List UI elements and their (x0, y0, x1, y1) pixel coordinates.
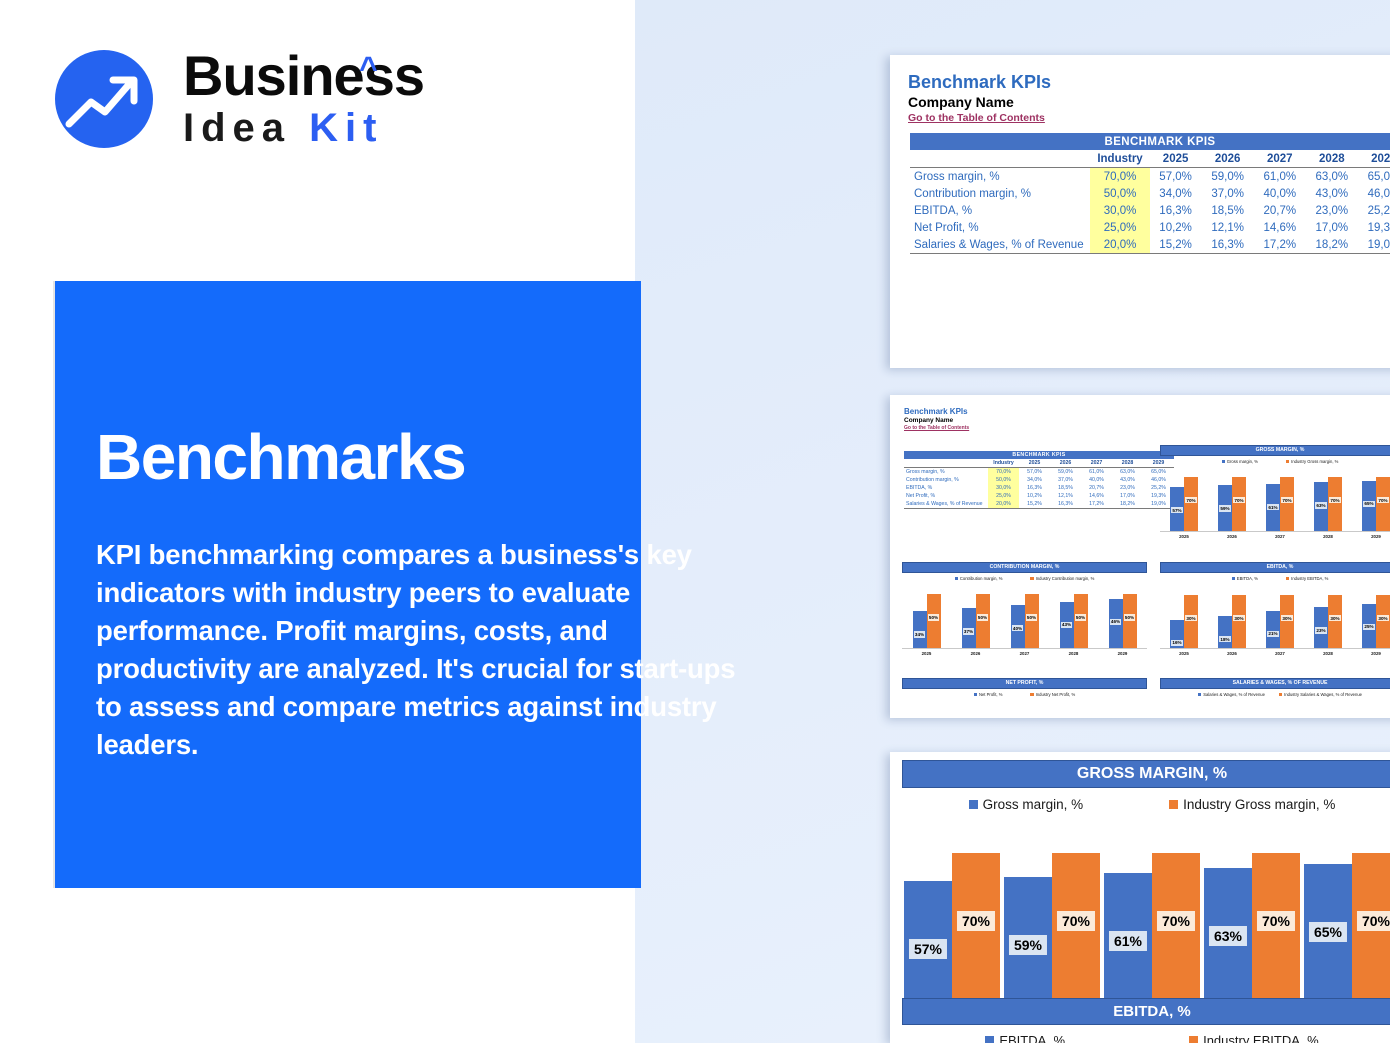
legend-swatch-orange-icon (1279, 693, 1282, 696)
chart-bar-group: 61%70% (1256, 471, 1304, 531)
chart-x-tick: 2025 (902, 649, 951, 656)
sheet-subtitle: Company Name (908, 93, 1051, 111)
sheet-subtitle-mini: Company Name (904, 417, 969, 425)
chart-bar-blue: 21% (1266, 611, 1280, 648)
chart-bar-blue: 40% (1011, 605, 1025, 648)
legend-item-series1: Salaries & Wages, % of Revenue (1198, 692, 1265, 697)
chart-data-label: 50% (1124, 614, 1136, 620)
kpi-header-blank (910, 150, 1090, 168)
chart-bar-orange: 70% (1232, 477, 1246, 531)
kpi-header-2026: 2026 (1050, 459, 1081, 468)
kpi-year-value: 43,0% (1112, 476, 1143, 484)
chart-x-tick: 2027 (1256, 532, 1304, 539)
chart-bar-group: 65%70% (1302, 836, 1390, 1004)
chart-bar-blue: 61% (1266, 484, 1280, 531)
benchmark-kpi-table: BENCHMARK KPISIndustry202520262027202820… (910, 133, 1390, 254)
kpi-year-value: 37,0% (1202, 185, 1254, 202)
growth-arrow-icon (55, 50, 153, 148)
sheet-title-mini: Benchmark KPIs (904, 407, 969, 417)
chart-bar-orange: 70% (952, 853, 1000, 1004)
hero-panel: Benchmarks KPI benchmarking compares a b… (55, 281, 641, 888)
chart-x-tick: 2028 (1049, 649, 1098, 656)
chart-bar-blue: 61% (1104, 873, 1152, 1004)
chart-bar-orange: 70% (1152, 853, 1200, 1004)
kpi-industry-value: 30,0% (988, 484, 1019, 492)
chart-title: NET PROFIT, % (902, 678, 1147, 689)
chart-bar-blue: 23% (1314, 607, 1328, 648)
chart-bar-orange: 30% (1328, 595, 1342, 648)
page-title: Benchmarks (96, 424, 465, 490)
chart-data-label: 46% (1110, 619, 1122, 625)
kpi-year-value: 61,0% (1254, 168, 1306, 186)
kpi-year-value: 14,6% (1254, 219, 1306, 236)
chart-bar-orange: 70% (1280, 477, 1294, 531)
chart-x-tick: 2025 (1160, 649, 1208, 656)
table-row: Net Profit, %25,0%10,2%12,1%14,6%17,0%19… (904, 492, 1174, 500)
legend-label: Industry Net Profit, % (1036, 692, 1076, 697)
brand-name-line2: Idea Kit (183, 104, 424, 152)
legend-swatch-blue-icon (969, 800, 978, 809)
chart-x-tick: 2027 (1256, 649, 1304, 656)
table-row: Gross margin, %70,0%57,0%59,0%61,0%63,0%… (910, 168, 1390, 186)
kpi-year-value: 15,2% (1150, 236, 1202, 254)
chart-net-profit-mini[interactable]: NET PROFIT, % Net Profit, % Industry Net… (902, 678, 1147, 697)
kpi-year-value: 16,3% (1150, 202, 1202, 219)
kpi-industry-value: 20,0% (1090, 236, 1149, 254)
chart-bar-orange: 30% (1232, 595, 1246, 648)
chart-bar-orange: 50% (927, 594, 941, 648)
chart-bar-blue: 59% (1218, 485, 1232, 530)
sheet-title: Benchmark KPIs (908, 71, 1051, 93)
chart-bar-orange: 50% (1025, 594, 1039, 648)
chart-data-label: 50% (1026, 614, 1038, 620)
kpi-header-2025: 2025 (1019, 459, 1050, 468)
chart-data-label: 18% (1219, 636, 1231, 642)
chart-data-label: 50% (928, 614, 940, 620)
chart-data-label: 63% (1315, 502, 1327, 508)
legend-label: EBITDA, % (1237, 576, 1258, 581)
kpi-year-value: 57,0% (1019, 468, 1050, 477)
chart-data-label: 70% (1281, 497, 1293, 503)
kpi-year-value: 18,5% (1202, 202, 1254, 219)
kpi-year-value: 17,2% (1081, 500, 1112, 509)
kpi-row-label: EBITDA, % (910, 202, 1090, 219)
chart-x-axis: 20252026202720282029 (1160, 648, 1390, 656)
chart-salaries-wages-mini[interactable]: SALARIES & WAGES, % OF REVENUE Salaries … (1160, 678, 1390, 697)
kpi-year-value: 19,3% (1358, 219, 1390, 236)
kpi-band-row: BENCHMARK KPIS (904, 451, 1174, 459)
chart-plot-area: 34%50%37%50%40%50%43%50%46%50% (902, 588, 1147, 648)
legend-label: Salaries & Wages, % of Revenue (1203, 692, 1265, 697)
chart-bar-group: 65%70% (1352, 471, 1390, 531)
legend-swatch-orange-icon (1189, 1036, 1198, 1043)
legend-item-series1: Net Profit, % (974, 692, 1003, 697)
chart-bar-group: 18%30% (1208, 588, 1256, 648)
chart-bar-blue: 43% (1060, 602, 1074, 648)
chart-data-label: 57% (909, 939, 947, 959)
chart-bar-orange: 70% (1352, 853, 1390, 1004)
legend-item-series2: Industry Gross margin, % (1286, 459, 1338, 464)
kpi-header-2027: 2027 (1081, 459, 1112, 468)
chart-bar-orange: 30% (1280, 595, 1294, 648)
chart-x-tick: 2028 (1304, 532, 1352, 539)
chart-data-label: 16% (1171, 640, 1183, 646)
brand-kit-text: Kit (309, 106, 383, 150)
kpi-row-label: EBITDA, % (904, 484, 988, 492)
chart-bar-group: 57%70% (1160, 471, 1208, 531)
kpi-industry-value: 50,0% (988, 476, 1019, 484)
kpi-year-value: 18,2% (1112, 500, 1143, 509)
kpi-year-value: 12,1% (1202, 219, 1254, 236)
chart-x-tick: 2028 (1304, 649, 1352, 656)
chart-x-tick: 2029 (1352, 649, 1390, 656)
chart-data-label: 50% (977, 614, 989, 620)
chart-x-axis: 20252026202720282029 (902, 648, 1147, 656)
kpi-header-2027: 2027 (1254, 150, 1306, 168)
kpi-year-value: 14,6% (1081, 492, 1112, 500)
kpi-header-row: Industry20252026202720282029 (904, 459, 1174, 468)
kpi-year-value: 25,2% (1358, 202, 1390, 219)
kpi-year-value: 63,0% (1112, 468, 1143, 477)
chart-bar-group: 63%70% (1202, 836, 1302, 1004)
kpi-band-label: BENCHMARK KPIS (904, 451, 1174, 459)
chart-bar-orange: 50% (1074, 594, 1088, 648)
chart-gross-margin-mini[interactable]: GROSS MARGIN, % Gross margin, % Industry… (1160, 445, 1390, 539)
chart-data-label: 70% (1157, 911, 1195, 931)
chart-bar-group: 23%30% (1304, 588, 1352, 648)
kpi-year-value: 34,0% (1150, 185, 1202, 202)
chart-data-label: 63% (1209, 926, 1247, 946)
chart-bar-group: 46%50% (1098, 588, 1147, 648)
chart-data-label: 61% (1109, 931, 1147, 951)
chart-bar-orange: 70% (1328, 477, 1342, 531)
legend-swatch-blue-icon (1232, 577, 1235, 580)
kpi-year-value: 19,0% (1358, 236, 1390, 254)
chart-data-label: 37% (963, 628, 975, 634)
kpi-header-industry: Industry (1090, 150, 1149, 168)
kpi-year-value: 17,2% (1254, 236, 1306, 254)
chart-title: CONTRIBUTION MARGIN, % (902, 562, 1147, 573)
legend-swatch-orange-icon (1286, 460, 1289, 463)
table-row: EBITDA, %30,0%16,3%18,5%20,7%23,0%25,2% (904, 484, 1174, 492)
chart-data-label: 70% (1257, 911, 1295, 931)
chart-bar-blue: 46% (1109, 599, 1123, 648)
chart-x-tick: 2029 (1098, 649, 1147, 656)
kpi-header-blank (904, 459, 988, 468)
legend-swatch-orange-icon (1169, 800, 1178, 809)
chart-bar-orange: 70% (1052, 853, 1100, 1004)
kpi-year-value: 40,0% (1254, 185, 1306, 202)
spreadsheet-panel-gross-margin-chart[interactable]: GROSS MARGIN, % Gross margin, % Industry… (890, 752, 1390, 1043)
kpi-industry-value: 70,0% (1090, 168, 1149, 186)
chart-data-label: 23% (1315, 627, 1327, 633)
kpi-year-value: 17,0% (1112, 492, 1143, 500)
kpi-year-value: 59,0% (1050, 468, 1081, 477)
kpi-year-value: 63,0% (1306, 168, 1358, 186)
kpi-band-label: BENCHMARK KPIS (910, 133, 1390, 150)
benchmark-kpi-table-mini: BENCHMARK KPISIndustry202520262027202820… (904, 451, 1174, 509)
chart-bar-orange: 50% (1123, 594, 1137, 648)
chart-bar-blue: 37% (962, 608, 976, 648)
chart-data-label: 70% (1357, 911, 1390, 931)
legend-item-series1: Gross margin, % (969, 797, 1084, 812)
chart-title: SALARIES & WAGES, % OF REVENUE (1160, 678, 1390, 689)
chart-data-label: 50% (1075, 614, 1087, 620)
chart-bar-blue: 63% (1204, 868, 1252, 1004)
kpi-year-value: 61,0% (1081, 468, 1112, 477)
legend-label: Contribution margin, % (960, 576, 1003, 581)
chart-bar-group: 34%50% (902, 588, 951, 648)
chart-bar-orange: 70% (1252, 853, 1300, 1004)
chart-data-label: 30% (1185, 615, 1197, 621)
kpi-year-value: 23,0% (1112, 484, 1143, 492)
legend-item-series2: Industry Salaries & Wages, % of Revenue (1279, 692, 1362, 697)
kpi-year-value: 40,0% (1081, 476, 1112, 484)
legend-item-series1: EBITDA, % (985, 1033, 1065, 1043)
chart-data-label: 34% (914, 631, 926, 637)
kpi-year-value: 17,0% (1306, 219, 1358, 236)
kpi-year-value: 34,0% (1019, 476, 1050, 484)
chart-gross-margin-large[interactable]: GROSS MARGIN, % Gross margin, % Industry… (902, 760, 1390, 1028)
kpi-year-value: 20,7% (1081, 484, 1112, 492)
chart-title: GROSS MARGIN, % (1160, 445, 1390, 456)
legend-swatch-orange-icon (1030, 693, 1033, 696)
chart-title: GROSS MARGIN, % (902, 760, 1390, 788)
chart-bar-orange: 30% (1376, 595, 1390, 648)
legend-label: Industry Contribution margin, % (1036, 576, 1095, 581)
chart-data-label: 30% (1329, 615, 1341, 621)
legend-swatch-blue-icon (974, 693, 977, 696)
chart-legend: EBITDA, % Industry EBITDA, % (902, 1033, 1390, 1043)
kpi-header-row: Industry20252026202720282029 (910, 150, 1390, 168)
spreadsheet-panel-kpi-table[interactable]: Benchmark KPIs Company Name Go to the Ta… (890, 55, 1390, 368)
kpi-year-value: 16,3% (1202, 236, 1254, 254)
table-row: Contribution margin, %50,0%34,0%37,0%40,… (904, 476, 1174, 484)
chart-legend: Contribution margin, % Industry Contribu… (902, 576, 1147, 581)
legend-label: Industry EBITDA, % (1291, 576, 1328, 581)
chart-bar-orange: 70% (1184, 477, 1198, 531)
kpi-year-value: 23,0% (1306, 202, 1358, 219)
chart-title: EBITDA, % (1160, 562, 1390, 573)
brand-logo: Business ^ Idea Kit (55, 42, 455, 162)
chart-bar-blue: 25% (1362, 604, 1376, 648)
kpi-industry-value: 70,0% (988, 468, 1019, 477)
kpi-year-value: 37,0% (1050, 476, 1081, 484)
legend-label: Industry Gross margin, % (1183, 797, 1335, 812)
kpi-industry-value: 25,0% (1090, 219, 1149, 236)
kpi-year-value: 10,2% (1019, 492, 1050, 500)
chart-data-label: 30% (1377, 615, 1389, 621)
chart-data-label: 59% (1219, 505, 1231, 511)
chart-bar-blue: 65% (1304, 864, 1352, 1004)
table-row: Salaries & Wages, % of Revenue20,0%15,2%… (904, 500, 1174, 509)
chart-bar-blue: 59% (1004, 877, 1052, 1004)
hero-description: KPI benchmarking compares a business's k… (96, 536, 756, 764)
chart-x-tick: 2029 (1352, 532, 1390, 539)
chart-data-label: 30% (1233, 615, 1245, 621)
chart-bar-orange: 50% (976, 594, 990, 648)
table-row: Salaries & Wages, % of Revenue20,0%15,2%… (910, 236, 1390, 254)
chart-bar-blue: 63% (1314, 482, 1328, 530)
chart-legend: Gross margin, % Industry Gross margin, % (1160, 459, 1390, 464)
kpi-row-label: Contribution margin, % (910, 185, 1090, 202)
legend-item-series2: Industry Gross margin, % (1169, 797, 1335, 812)
chart-bar-blue: 34% (913, 611, 927, 647)
legend-label: Gross margin, % (1227, 459, 1258, 464)
chart-data-label: 59% (1009, 935, 1047, 955)
kpi-year-value: 10,2% (1150, 219, 1202, 236)
legend-label: Gross margin, % (983, 797, 1084, 812)
chart-bar-group: 25%30% (1352, 588, 1390, 648)
chart-bar-group: 59%70% (1002, 836, 1102, 1004)
kpi-row-label: Salaries & Wages, % of Revenue (910, 236, 1090, 254)
brand-name-text: Business (183, 44, 424, 107)
chart-bar-group: 16%30% (1160, 588, 1208, 648)
chart-legend: EBITDA, % Industry EBITDA, % (1160, 576, 1390, 581)
kpi-year-value: 20,7% (1254, 202, 1306, 219)
kpi-row-label: Gross margin, % (910, 168, 1090, 186)
kpi-industry-value: 50,0% (1090, 185, 1149, 202)
kpi-header-2028: 2028 (1306, 150, 1358, 168)
chart-x-tick: 2027 (1000, 649, 1049, 656)
kpi-row-label: Gross margin, % (904, 468, 988, 477)
brand-idea-text: Idea (183, 106, 309, 150)
chart-data-label: 65% (1363, 501, 1375, 507)
chart-data-label: 40% (1012, 625, 1024, 631)
kpi-header-industry: Industry (988, 459, 1019, 468)
kpi-industry-value: 20,0% (988, 500, 1019, 509)
legend-label: Net Profit, % (979, 692, 1003, 697)
legend-item-series1: Contribution margin, % (955, 576, 1003, 581)
legend-swatch-blue-icon (1222, 460, 1225, 463)
legend-item-series2: Industry Net Profit, % (1030, 692, 1075, 697)
table-row: Net Profit, %25,0%10,2%12,1%14,6%17,0%19… (910, 219, 1390, 236)
chart-bar-group: 40%50% (1000, 588, 1049, 648)
kpi-year-value: 18,5% (1050, 484, 1081, 492)
kpi-year-value: 15,2% (1019, 500, 1050, 509)
chart-bar-group: 57%70% (902, 836, 1002, 1004)
chart-data-label: 25% (1363, 624, 1375, 630)
table-row: EBITDA, %30,0%16,3%18,5%20,7%23,0%25,2% (910, 202, 1390, 219)
circumflex-accent-icon: ^ (359, 38, 377, 98)
legend-swatch-blue-icon (1198, 693, 1201, 696)
table-row: Contribution margin, %50,0%34,0%37,0%40,… (910, 185, 1390, 202)
kpi-year-value: 16,3% (1019, 484, 1050, 492)
chart-bar-blue: 65% (1362, 481, 1376, 531)
chart-contribution-margin-mini[interactable]: CONTRIBUTION MARGIN, % Contribution marg… (902, 562, 1147, 656)
chart-bar-blue: 57% (904, 881, 952, 1004)
legend-label: Industry Salaries & Wages, % of Revenue (1284, 692, 1362, 697)
spreadsheet-panel-dashboard[interactable]: Benchmark KPIs Company Name Go to the Ta… (890, 395, 1390, 718)
brand-name-line1: Business ^ (183, 46, 424, 106)
kpi-year-value: 59,0% (1202, 168, 1254, 186)
legend-item-series2: Industry EBITDA, % (1286, 576, 1328, 581)
kpi-year-value: 43,0% (1306, 185, 1358, 202)
legend-item-series1: EBITDA, % (1232, 576, 1258, 581)
kpi-row-label: Net Profit, % (904, 492, 988, 500)
legend-label: Industry Gross margin, % (1291, 459, 1338, 464)
legend-swatch-orange-icon (1030, 577, 1033, 580)
chart-x-tick: 2026 (1208, 649, 1256, 656)
kpi-header-2025: 2025 (1150, 150, 1202, 168)
kpi-table-body: BENCHMARK KPISIndustry202520262027202820… (910, 133, 1390, 254)
chart-data-label: 57% (1171, 507, 1183, 513)
chart-data-label: 61% (1267, 504, 1279, 510)
legend-item-series2: Industry EBITDA, % (1189, 1033, 1319, 1043)
kpi-year-value: 57,0% (1150, 168, 1202, 186)
table-of-contents-link[interactable]: Go to the Table of Contents (908, 111, 1051, 125)
chart-plot-area: 16%30%18%30%21%30%23%30%25%30% (1160, 588, 1390, 648)
chart-data-label: 70% (1057, 911, 1095, 931)
legend-item-series2: Industry Contribution margin, % (1030, 576, 1094, 581)
kpi-row-label: Salaries & Wages, % of Revenue (904, 500, 988, 509)
kpi-year-value: 12,1% (1050, 492, 1081, 500)
chart-bar-group: 37%50% (951, 588, 1000, 648)
chart-data-label: 70% (1185, 497, 1197, 503)
chart-data-label: 43% (1061, 622, 1073, 628)
chart-bar-group: 59%70% (1208, 471, 1256, 531)
chart-x-tick: 2026 (1208, 532, 1256, 539)
chart-data-label: 70% (1329, 497, 1341, 503)
sheet-header: Benchmark KPIs Company Name Go to the Ta… (908, 71, 1051, 125)
legend-label: EBITDA, % (999, 1033, 1065, 1043)
sheet-header-mini: Benchmark KPIs Company Name Go to the Ta… (904, 407, 969, 432)
kpi-year-value: 65,0% (1358, 168, 1390, 186)
chart-data-label: 65% (1309, 922, 1347, 942)
kpi-header-2029: 2029 (1358, 150, 1390, 168)
chart-data-label: 30% (1281, 615, 1293, 621)
chart-ebitda-large[interactable]: EBITDA, % EBITDA, % Industry EBITDA, % (902, 998, 1390, 1043)
chart-bar-group: 21%30% (1256, 588, 1304, 648)
chart-bar-orange: 70% (1376, 477, 1390, 531)
chart-ebitda-mini[interactable]: EBITDA, % EBITDA, % Industry EBITDA, % 1… (1160, 562, 1390, 656)
legend-item-series1: Gross margin, % (1222, 459, 1258, 464)
chart-plot-area: 57%70%59%70%61%70%63%70%65%70% (902, 836, 1390, 1004)
kpi-header-2028: 2028 (1112, 459, 1143, 468)
kpi-band-row: BENCHMARK KPIS (910, 133, 1390, 150)
chart-title: EBITDA, % (902, 998, 1390, 1025)
chart-legend: Salaries & Wages, % of Revenue Industry … (1160, 692, 1390, 697)
kpi-year-value: 18,2% (1306, 236, 1358, 254)
table-of-contents-link-mini[interactable]: Go to the Table of Contents (904, 425, 969, 432)
chart-bar-group: 63%70% (1304, 471, 1352, 531)
chart-bar-blue: 57% (1170, 487, 1184, 531)
chart-bar-blue: 16% (1170, 620, 1184, 648)
chart-bar-group: 61%70% (1102, 836, 1202, 1004)
kpi-industry-value: 25,0% (988, 492, 1019, 500)
table-row: Gross margin, %70,0%57,0%59,0%61,0%63,0%… (904, 468, 1174, 477)
chart-x-tick: 2025 (1160, 532, 1208, 539)
kpi-row-label: Net Profit, % (910, 219, 1090, 236)
chart-x-tick: 2026 (951, 649, 1000, 656)
chart-x-axis: 20252026202720282029 (1160, 531, 1390, 539)
legend-swatch-blue-icon (955, 577, 958, 580)
kpi-table-body-mini: BENCHMARK KPISIndustry202520262027202820… (904, 451, 1174, 509)
kpi-year-value: 46,0% (1358, 185, 1390, 202)
chart-data-label: 70% (1377, 497, 1389, 503)
chart-data-label: 21% (1267, 631, 1279, 637)
chart-bar-orange: 30% (1184, 595, 1198, 648)
chart-data-label: 70% (957, 911, 995, 931)
kpi-row-label: Contribution margin, % (904, 476, 988, 484)
legend-label: Industry EBITDA, % (1203, 1033, 1319, 1043)
chart-bar-blue: 18% (1218, 616, 1232, 648)
kpi-year-value: 16,3% (1050, 500, 1081, 509)
chart-data-label: 70% (1233, 497, 1245, 503)
legend-swatch-orange-icon (1286, 577, 1289, 580)
kpi-header-2026: 2026 (1202, 150, 1254, 168)
chart-legend: Gross margin, % Industry Gross margin, % (902, 797, 1390, 812)
